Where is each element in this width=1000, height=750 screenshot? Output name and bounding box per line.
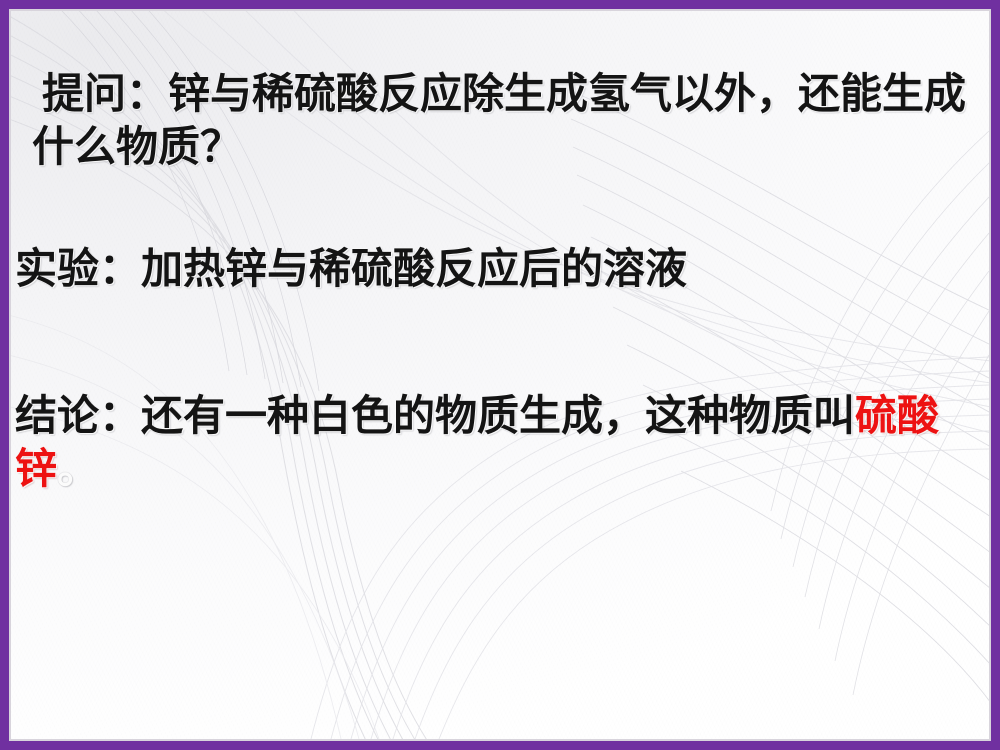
conclusion-text-before-accent: 结论： [15, 391, 141, 440]
text-layer: 提问：锌与稀硫酸反应除生成氢气以外，还能生成什么物质？ 实验：加热锌与稀硫酸反应… [11, 11, 989, 739]
conclusion-paragraph: 结论：还有一种白色的物质生成，这种物质叫硫酸锌。 [15, 389, 983, 495]
conclusion-body-text: 还有一种白色的物质生成，这种物质叫 [141, 391, 855, 440]
question-paragraph: 提问：锌与稀硫酸反应除生成氢气以外，还能生成什么物质？ [32, 67, 989, 173]
slide: 提问：锌与稀硫酸反应除生成氢气以外，还能生成什么物质？ 实验：加热锌与稀硫酸反应… [0, 0, 1000, 750]
experiment-paragraph: 实验：加热锌与稀硫酸反应后的溶液 [15, 242, 980, 295]
slide-inner-border: 提问：锌与稀硫酸反应除生成氢气以外，还能生成什么物质？ 实验：加热锌与稀硫酸反应… [9, 9, 991, 741]
conclusion-trailing-period: 。 [57, 444, 99, 493]
slide-canvas: 提问：锌与稀硫酸反应除生成氢气以外，还能生成什么物质？ 实验：加热锌与稀硫酸反应… [11, 11, 989, 739]
